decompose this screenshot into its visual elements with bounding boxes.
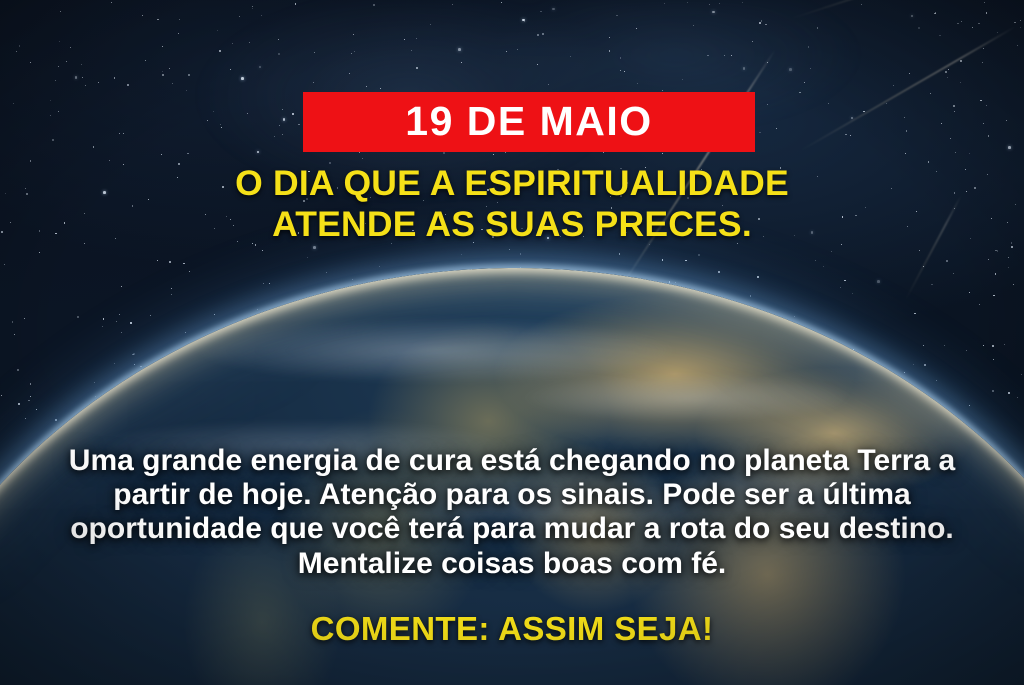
headline: O DIA QUE A ESPIRITUALIDADE ATENDE AS SU…	[0, 163, 1024, 245]
date-badge: 19 DE MAIO	[303, 92, 755, 152]
cta-text: COMENTE: ASSIM SEJA!	[0, 610, 1024, 648]
headline-line-1: O DIA QUE A ESPIRITUALIDADE	[235, 163, 789, 203]
body-copy: Uma grande energia de cura está chegando…	[0, 444, 1024, 581]
date-badge-label: 19 DE MAIO	[405, 101, 652, 142]
headline-line-2: ATENDE AS SUAS PRECES.	[40, 204, 984, 245]
poster-canvas: 19 DE MAIO O DIA QUE A ESPIRITUALIDADE A…	[0, 0, 1024, 685]
poster-content: 19 DE MAIO O DIA QUE A ESPIRITUALIDADE A…	[0, 0, 1024, 685]
